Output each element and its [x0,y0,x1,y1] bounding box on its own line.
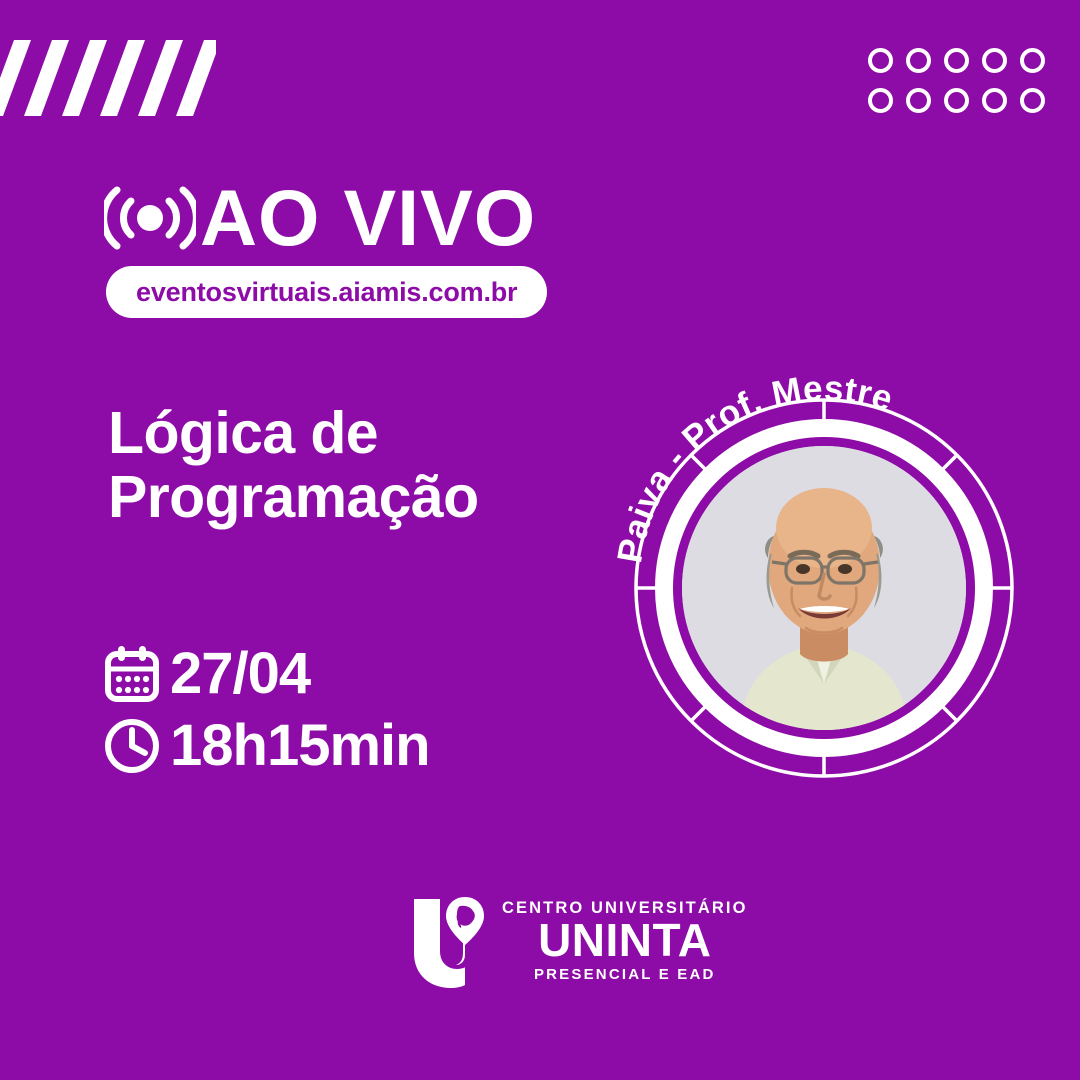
circle-outline-icon [1020,48,1045,73]
circle-outline-icon [944,88,969,113]
event-date-row: 27/04 [104,645,430,703]
event-url-pill[interactable]: eventosvirtuais.aiamis.com.br [106,266,547,318]
speaker-portrait-icon [682,446,966,730]
poster-canvas: AO VIVO eventosvirtuais.aiamis.com.br Ló… [0,0,1080,1080]
circle-outline-icon [1020,88,1045,113]
calendar-icon [104,645,160,703]
live-badge: AO VIVO [104,178,536,257]
clock-icon [104,717,160,775]
event-url-text: eventosvirtuais.aiamis.com.br [136,277,517,308]
event-time-row: 18h15min [104,717,430,775]
logo-name: UNINTA [538,917,711,965]
circle-outline-icon [982,88,1007,113]
broadcast-icon [104,182,196,254]
circle-outline-icon [944,48,969,73]
circle-outline-icon [906,48,931,73]
circle-outline-icon [868,48,893,73]
event-date-value: 27/04 [170,645,310,703]
diagonal-stripes-icon [0,40,216,116]
event-title: Lógica de Programação [108,402,668,529]
circle-outline-icon [868,88,893,113]
logo-bottom-line: PRESENCIAL E EAD [534,967,716,982]
live-label: AO VIVO [200,178,536,257]
uninta-u-pin-icon [408,893,488,989]
circle-outline-icon [906,88,931,113]
event-title-line-2: Programação [108,464,479,530]
schedule-block: 27/04 18h15min [104,645,430,775]
speaker-card: Ivo Paiva - Prof. Mestre [631,395,1017,781]
speaker-avatar [682,446,966,730]
event-time-value: 18h15min [170,717,430,775]
event-title-line-1: Lógica de [108,400,378,466]
uninta-logo: CENTRO UNIVERSITÁRIO UNINTA PRESENCIAL E… [408,893,748,989]
circle-outline-icon [982,48,1007,73]
dot-grid-decoration [868,48,1058,128]
uninta-logo-text: CENTRO UNIVERSITÁRIO UNINTA PRESENCIAL E… [502,900,748,981]
